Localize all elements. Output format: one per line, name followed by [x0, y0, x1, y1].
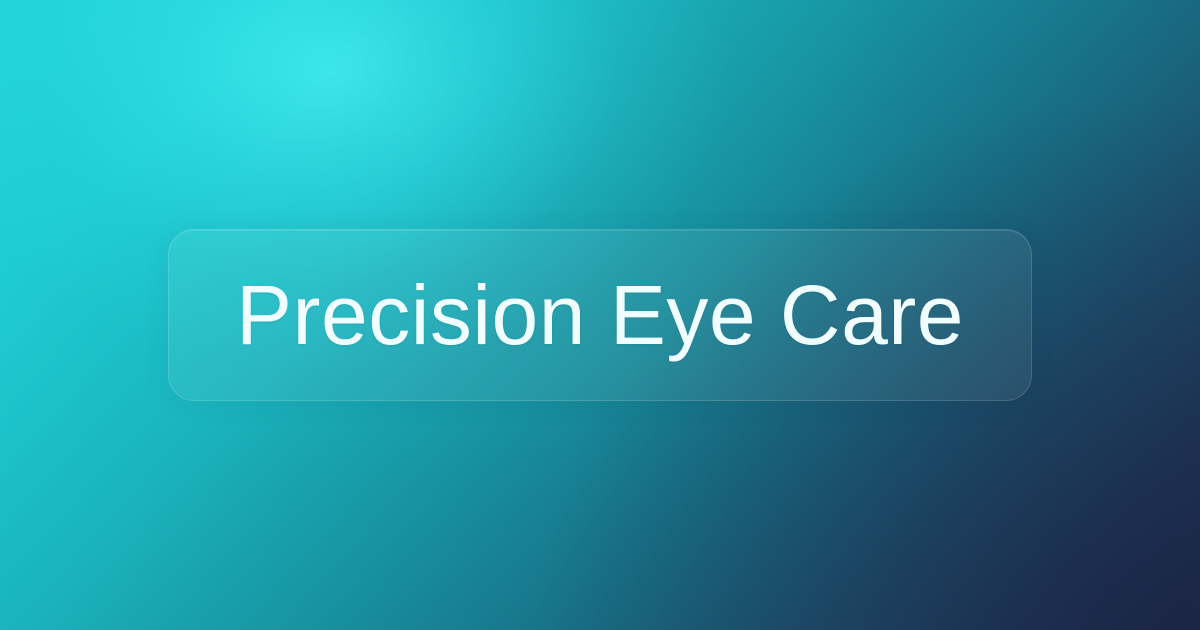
page-title: Precision Eye Care: [236, 273, 964, 357]
title-card: Precision Eye Care: [168, 229, 1032, 401]
banner-canvas: Precision Eye Care: [0, 0, 1200, 630]
